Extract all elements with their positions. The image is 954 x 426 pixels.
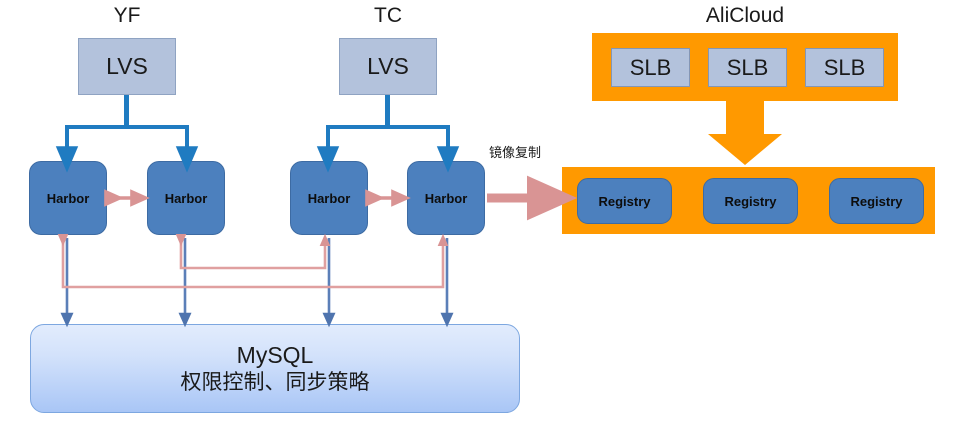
harbor-box-tc-1[interactable]: Harbor [290,161,368,235]
connector-tc-lvs-bar [326,125,450,129]
connector-yf-right-drop [185,125,189,151]
harbor-label: Harbor [165,191,208,206]
registry-label: Registry [850,194,902,209]
lvs-box-tc[interactable]: LVS [339,38,437,95]
connector-yf-left-drop [65,125,69,151]
mirror-replication-label: 镜像复制 [489,142,541,161]
registry-box-2[interactable]: Registry [703,178,798,224]
connector-tc-right-drop [446,125,450,151]
harbor-label: Harbor [47,191,90,206]
slb-box-1[interactable]: SLB [611,48,690,87]
harbor-box-tc-2[interactable]: Harbor [407,161,485,235]
section-title-alicloud: AliCloud [685,3,805,29]
harbor-box-yf-1[interactable]: Harbor [29,161,107,235]
arrow-crosssite-sync-upper [181,240,325,268]
arrow-slb-to-registry [708,101,782,165]
section-title-yf: YF [77,3,177,29]
harbor-box-yf-2[interactable]: Harbor [147,161,225,235]
slb-label: SLB [824,55,866,81]
connector-yf-lvs-stem [124,95,129,128]
connector-tc-left-drop [326,125,330,151]
lvs-label: LVS [106,53,148,80]
arrow-crosssite-sync-lower [63,240,443,287]
lvs-box-yf[interactable]: LVS [78,38,176,95]
registry-box-3[interactable]: Registry [829,178,924,224]
slb-label: SLB [727,55,769,81]
registry-label: Registry [724,194,776,209]
slb-label: SLB [630,55,672,81]
mysql-box[interactable]: MySQL 权限控制、同步策略 [30,324,520,413]
mysql-title: MySQL [237,341,314,369]
lvs-label: LVS [367,53,409,80]
connector-tc-lvs-stem [385,95,390,128]
registry-label: Registry [598,194,650,209]
harbor-label: Harbor [308,191,351,206]
slb-box-3[interactable]: SLB [805,48,884,87]
registry-box-1[interactable]: Registry [577,178,672,224]
section-title-tc: TC [338,3,438,29]
mysql-subtitle: 权限控制、同步策略 [181,369,370,397]
architecture-diagram: YF TC AliCloud LVS LVS Harbor Harbor Har… [0,0,954,426]
connector-yf-lvs-bar [65,125,189,129]
harbor-label: Harbor [425,191,468,206]
slb-box-2[interactable]: SLB [708,48,787,87]
